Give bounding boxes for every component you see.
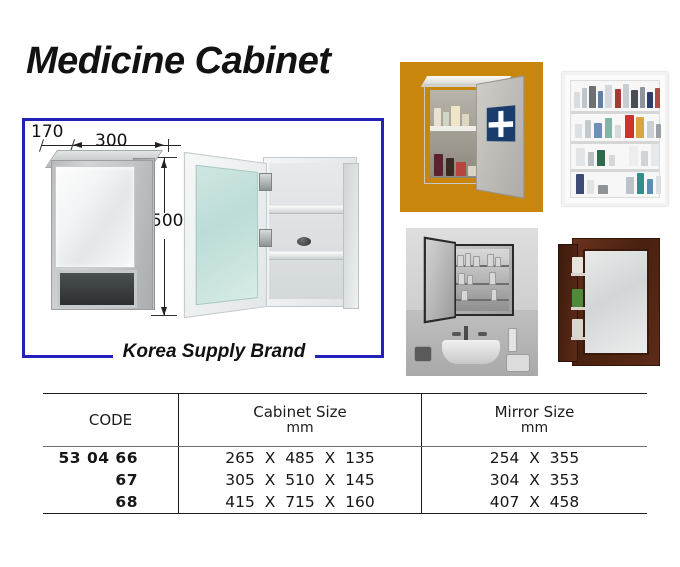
photo2-bottle — [625, 115, 634, 138]
photo1-cross-panel — [487, 105, 515, 141]
photo2-bottle — [640, 87, 645, 108]
photo2-bottle — [589, 86, 596, 108]
dimension-label-depth: 170 — [31, 122, 63, 142]
photo4-cabinet-side — [558, 244, 578, 362]
photo4-mirror-panel — [583, 249, 649, 355]
cabinet-shelf-2 — [269, 251, 343, 260]
photo4-bottle — [572, 289, 583, 307]
open-shelf — [57, 270, 137, 308]
cabinet-shelf-1 — [269, 205, 343, 214]
photo2-bottle — [598, 91, 603, 108]
photo1-bottle — [434, 108, 441, 126]
table-header: CODE Cabinet Size mm Mirror Size mm — [43, 394, 647, 447]
photo2-bottle — [641, 151, 648, 166]
photo1-bottle — [462, 114, 469, 126]
dimension-tick-width-end — [168, 139, 169, 152]
dimension-cap-height-bottom — [151, 315, 177, 316]
photo2-shelf-row-2 — [571, 111, 659, 141]
glass-door — [184, 152, 267, 318]
table-body: 53 04 66 67 68 265 X 485 X 135 305 X 510… — [43, 447, 647, 514]
photo2-shelf-row-1 — [571, 81, 659, 111]
hinge-bottom — [259, 229, 272, 247]
cell-code: 68 — [43, 491, 138, 513]
dimension-arrow-width-left — [73, 142, 82, 148]
photo2-bottle — [594, 123, 602, 138]
dimension-line-depth — [41, 145, 73, 146]
table-header-row: CODE Cabinet Size mm Mirror Size mm — [43, 394, 647, 447]
column-header-mirror-size: Mirror Size mm — [422, 394, 648, 447]
cabinet-open-illustration — [185, 155, 360, 315]
column-header-cabinet-size: Cabinet Size mm — [179, 394, 422, 447]
photo2-bottle — [637, 173, 644, 194]
photo2-bottle — [576, 148, 585, 166]
photo2-shelf-row-3 — [571, 141, 659, 169]
photo3-towel — [506, 354, 530, 372]
hinge-top — [259, 173, 272, 191]
column-header-cabinet-unit: mm — [179, 421, 421, 437]
first-aid-cross-icon — [489, 121, 513, 127]
photo-bathroom-mirror-cabinet — [406, 228, 538, 376]
photo2-bottle — [605, 85, 612, 108]
photo3-bottle — [491, 289, 497, 301]
photo1-bottle — [456, 162, 466, 176]
photo-stocked-cabinet — [552, 62, 674, 212]
photo1-bottle — [434, 154, 443, 176]
photo2-bottle — [588, 152, 594, 166]
photo4-bottle — [572, 257, 583, 273]
photo3-bottle — [461, 290, 468, 301]
photo2-bottle — [647, 179, 653, 194]
photo2-bottle — [576, 174, 584, 194]
cell-cabinet-size: 305 X 510 X 145 — [179, 469, 421, 491]
photo3-bottle — [489, 272, 496, 285]
cell-mirror-size: 304 X 353 — [422, 469, 647, 491]
photo1-bottle — [446, 158, 454, 176]
cell-code-group: 53 04 66 67 68 — [43, 447, 179, 514]
photo1-cabinet-door — [476, 75, 524, 198]
cell-mirror-size-group: 254 X 355 304 X 353 407 X 458 — [422, 447, 648, 514]
photo3-cabinet-door — [424, 236, 456, 323]
specification-table: CODE Cabinet Size mm Mirror Size mm 53 0… — [43, 393, 647, 514]
column-header-code-label: CODE — [89, 411, 132, 429]
dimension-arrow-width-right — [155, 142, 164, 148]
photo4-shelf-2 — [571, 307, 585, 310]
photo2-bottle — [656, 176, 661, 194]
photo4-bottle — [572, 319, 583, 337]
cabinet-closed-illustration — [43, 148, 161, 311]
page-title: Medicine Cabinet — [26, 40, 331, 83]
photo2-bottle — [647, 121, 654, 138]
brand-caption-text: Korea Supply Brand — [113, 341, 316, 362]
cell-cabinet-size: 415 X 715 X 160 — [179, 491, 421, 513]
photo3-counter-bottle — [508, 328, 517, 352]
photo2-bottle — [615, 89, 621, 108]
photo4-shelf-3 — [571, 337, 585, 340]
photo2-cabinet-interior — [570, 80, 660, 198]
photo1-bottle — [451, 106, 460, 126]
photo2-bottle — [574, 92, 580, 108]
photo2-bottle — [585, 120, 591, 138]
photo3-faucet-handle-left — [452, 332, 461, 336]
photo3-cabinet-interior — [453, 249, 509, 311]
table-row: 53 04 66 67 68 265 X 485 X 135 305 X 510… — [43, 447, 647, 514]
photo2-bottle — [582, 88, 587, 108]
photo2-shelf-row-4 — [571, 169, 659, 197]
column-header-mirror-unit: mm — [422, 421, 647, 437]
photo4-wood-frame — [572, 238, 660, 366]
photo2-cabinet-frame — [562, 72, 668, 206]
cell-code: 53 04 66 — [43, 447, 138, 469]
frosted-glass-panel — [196, 165, 258, 306]
photo2-bottle — [609, 155, 615, 166]
photo3-counter-item — [414, 346, 432, 362]
photo2-bottle — [631, 90, 638, 108]
photo3-bottle — [473, 256, 480, 267]
photo3-bottle — [487, 254, 494, 267]
photo2-bottle — [623, 84, 629, 108]
photo3-cabinet — [448, 244, 514, 316]
photo2-bottle — [575, 124, 582, 138]
photo2-bottle — [626, 177, 634, 194]
photo3-faucet-handle-right — [478, 332, 487, 336]
diagram-inner: 170 300 500 — [25, 121, 381, 355]
photo2-bottle — [655, 88, 660, 108]
dimension-line-height-lower — [164, 239, 165, 315]
column-header-mirror-size-label: Mirror Size — [495, 403, 575, 421]
column-header-code: CODE — [43, 394, 179, 447]
cabinet-carcass-side — [343, 163, 359, 309]
photo-white-cabinet-cross — [400, 62, 543, 212]
diagram-panel: 170 300 500 — [22, 118, 384, 358]
photo-wood-mirror-cabinet — [548, 228, 676, 376]
cell-cabinet-size-group: 265 X 485 X 135 305 X 510 X 145 415 X 71… — [179, 447, 422, 514]
column-header-cabinet-size-label: Cabinet Size — [253, 403, 347, 421]
photo3-bottle — [458, 273, 465, 285]
photo4-shelf-1 — [571, 273, 585, 276]
brand-caption: Korea Supply Brand — [22, 341, 406, 363]
photo1-bottle — [443, 112, 449, 126]
photo2-bottle — [587, 180, 594, 194]
photo2-bottle — [615, 125, 621, 138]
photo2-bottle — [597, 150, 605, 166]
photo3-sink — [442, 340, 500, 364]
cabinet-knob — [297, 237, 311, 246]
cell-mirror-size: 254 X 355 — [422, 447, 647, 469]
photo2-bottle — [656, 124, 661, 138]
photo2-bottle — [636, 117, 644, 138]
cabinet-interior — [269, 163, 343, 299]
photo3-bottle — [457, 255, 464, 267]
photo2-bottle — [598, 185, 608, 194]
photo2-bottle — [647, 92, 653, 108]
photo3-bottle — [465, 253, 471, 267]
cell-mirror-size: 407 X 458 — [422, 491, 647, 513]
cell-cabinet-size: 265 X 485 X 135 — [179, 447, 421, 469]
dimension-arrow-height-up — [161, 159, 167, 168]
photo2-bottle — [629, 146, 638, 166]
photo2-bottle — [651, 144, 659, 166]
photo2-bottle — [605, 118, 612, 138]
mirror-door — [55, 166, 135, 268]
photo3-bottle — [495, 257, 501, 267]
cell-code: 67 — [43, 469, 138, 491]
photo3-bottle — [467, 275, 473, 285]
